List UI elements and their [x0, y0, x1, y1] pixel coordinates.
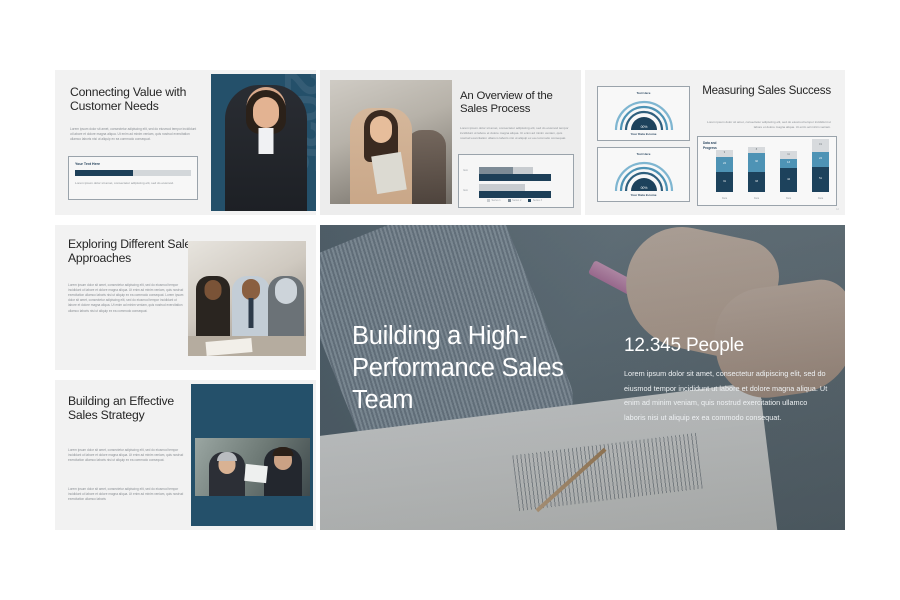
slide1-title: Connecting Value with Customer Needs — [70, 85, 210, 114]
legend-item: Series 2 — [508, 199, 522, 202]
chart-legend: Series 1 Series 2 Series 3 — [487, 199, 542, 202]
photo-person-left — [196, 276, 230, 336]
photo-team-meeting — [188, 241, 306, 356]
chart-title: Data and Progress — [703, 141, 717, 151]
photo-businesswoman — [225, 85, 307, 211]
slide1-image-panel: 2025 — [211, 74, 316, 211]
column-label: Data — [812, 197, 829, 200]
slide-high-performance-team[interactable]: Building a High-Performance Sales Team 1… — [320, 225, 845, 530]
face-shape — [253, 97, 279, 128]
gauge-title: Text Here — [598, 91, 689, 95]
radial-gauge-icon: 00% — [613, 160, 675, 192]
slide3-body: Lorem ipsum dolor sit amet, consectetur … — [706, 120, 831, 130]
slide5-title: Building an Effective Sales Strategy — [68, 394, 188, 423]
slide-deck: Connecting Value with Customer Needs Lor… — [55, 70, 845, 530]
photo-person-right — [264, 448, 302, 496]
slide5-body-1: Lorem ipsum dolor sit amet, consectetur … — [68, 448, 184, 463]
legend-item: Series 3 — [528, 199, 542, 202]
radial-gauge-icon: 00% — [613, 99, 675, 131]
slide-sales-process[interactable]: An Overview of the Sales Process Lorem i… — [320, 70, 581, 215]
slide4-body: Lorem ipsum dolor sit amet, consectetur … — [68, 283, 184, 314]
hero-title: Building a High-Performance Sales Team — [352, 321, 597, 417]
column-bar: 8 32 33 Data — [748, 147, 765, 192]
page-number: 12 — [836, 208, 839, 211]
legend-item: Series 1 — [487, 199, 501, 202]
photo-document — [244, 464, 268, 483]
slide1-callout-card: Your Text Here Lorem ipsum dolor sit ame… — [68, 156, 198, 200]
gauge-card-2: Text Here 00% Your Data Income — [597, 147, 690, 202]
column-bar: 19 24 51 Data — [812, 139, 829, 192]
column-bar: 9 24 31 Data — [716, 150, 733, 192]
callout-body: Lorem ipsum dolor sit amet, consectetur … — [75, 181, 187, 186]
slide3-column-chart: Data and Progress 9 24 31 Data 8 32 33 D… — [697, 136, 837, 206]
callout-title: Your Text Here — [75, 162, 100, 166]
column-label: Data — [748, 197, 765, 200]
gauge-card-1: Text Here 00% Your Data Income — [597, 86, 690, 141]
shirt-shape — [259, 128, 274, 154]
slide3-title: Measuring Sales Success — [701, 84, 831, 98]
face-shape — [370, 116, 392, 143]
svg-text:00%: 00% — [640, 125, 647, 129]
slide5-body-2: Lorem ipsum dolor sit amet, consectetur … — [68, 487, 184, 502]
slide2-title: An Overview of the Sales Process — [460, 90, 572, 117]
slide-effective-strategy[interactable]: Building an Effective Sales Strategy Lor… — [55, 380, 316, 530]
slide-sales-approaches[interactable]: Exploring Different Sales Approaches Lor… — [55, 225, 316, 370]
photo-person-left — [209, 452, 245, 496]
hero-stat-value: 12.345 People — [624, 335, 829, 357]
progress-track — [75, 170, 191, 176]
gauge-title: Text Here — [598, 152, 689, 156]
progress-fill — [75, 170, 133, 176]
column-bar: 11 13 44 Data — [780, 151, 797, 192]
gauge-subtitle: Your Data Income — [598, 132, 689, 136]
photo-background-figure — [406, 130, 446, 204]
photo-person-right — [268, 276, 304, 338]
bar-segment — [513, 167, 533, 174]
column-label: Data — [716, 197, 733, 200]
bar-segment — [479, 174, 551, 181]
bar-row-label-2: Item — [463, 189, 468, 192]
column-label: Data — [780, 197, 797, 200]
photo-woman-with-folder — [330, 80, 452, 204]
bar-row-label-1: Item — [463, 169, 468, 172]
bar-segment — [479, 184, 525, 191]
bar-segment — [479, 167, 513, 174]
photo-two-businessmen — [195, 438, 310, 496]
slide1-body: Lorem ipsum dolor sit amet, consectetur … — [70, 127, 198, 143]
bar-segment — [479, 191, 551, 198]
photo-person-center — [232, 276, 270, 342]
gauge-subtitle: Your Data Income — [598, 193, 689, 197]
folder-shape — [371, 152, 407, 194]
hero-stat-body: Lorem ipsum dolor sit amet, consectetur … — [624, 367, 830, 426]
slide2-body: Lorem ipsum dolor sit amet, consectetur … — [460, 126, 572, 141]
slide-connecting-value[interactable]: Connecting Value with Customer Needs Lor… — [55, 70, 316, 215]
slide-measuring-success[interactable]: Measuring Sales Success Lorem ipsum dolo… — [585, 70, 845, 215]
slide2-chart: Item Item Series 1 Series 2 Series 3 — [458, 154, 574, 208]
svg-text:00%: 00% — [640, 186, 647, 190]
